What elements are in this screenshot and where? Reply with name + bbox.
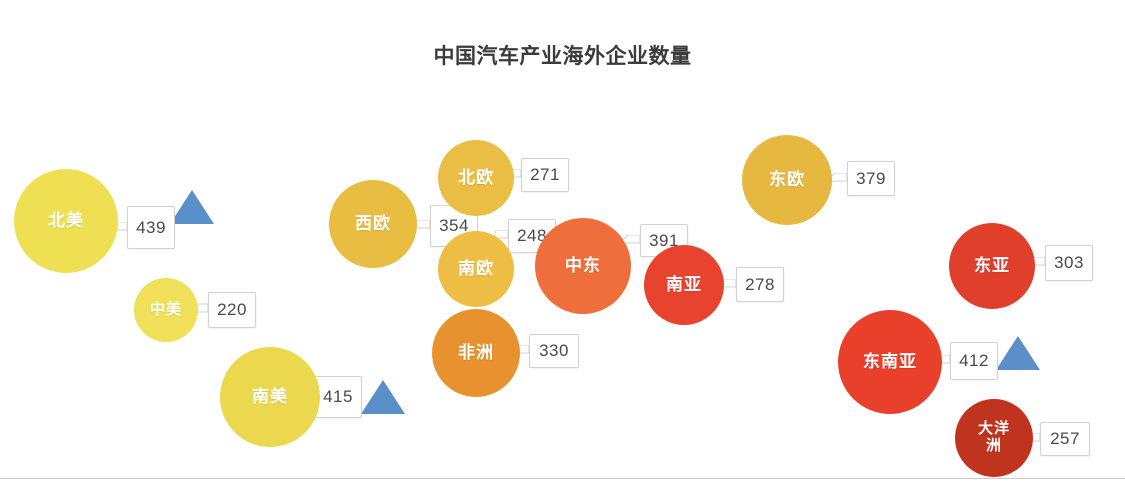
bubble-label: 北美 [48, 211, 84, 230]
value-callout-大洋洲[interactable]: 257 [1040, 422, 1090, 456]
bubble-北欧[interactable]: 北欧 [438, 140, 514, 216]
triangle-marker-2[interactable] [361, 380, 405, 414]
bubble-label: 中东 [565, 256, 601, 275]
bubble-label: 北欧 [458, 168, 494, 187]
value-text: 412 [959, 351, 989, 371]
value-text: 271 [530, 165, 560, 185]
bubble-南亚[interactable]: 南亚 [644, 245, 724, 325]
bubble-中美[interactable]: 中美 [134, 278, 198, 342]
bubble-东欧[interactable]: 东欧 [742, 135, 832, 225]
bubble-label: 东亚 [974, 256, 1010, 275]
bubble-label: 非洲 [458, 343, 494, 362]
value-text: 330 [539, 341, 569, 361]
bubble-南欧[interactable]: 南欧 [438, 231, 514, 307]
value-callout-东亚[interactable]: 303 [1045, 245, 1093, 281]
value-text: 278 [745, 275, 775, 295]
bubble-label: 大洋洲 [976, 421, 1012, 455]
value-callout-南美[interactable]: 415 [314, 376, 362, 418]
bubble-label: 东欧 [769, 170, 805, 189]
bubble-chart-canvas: 中国汽车产业海外企业数量 北美中美南美西欧北欧南欧东欧中东南亚非洲东亚东南亚大洋… [0, 0, 1125, 485]
bubble-北美[interactable]: 北美 [14, 169, 118, 273]
triangle-marker-number: 1 [170, 221, 214, 241]
triangle-marker-1[interactable] [170, 190, 214, 224]
value-text: 415 [323, 387, 353, 407]
bubble-label: 南亚 [666, 275, 702, 294]
bubble-东南亚[interactable]: 东南亚 [838, 310, 942, 414]
value-callout-东欧[interactable]: 379 [847, 161, 895, 196]
bubble-西欧[interactable]: 西欧 [329, 180, 417, 268]
bubble-label: 中美 [150, 302, 182, 319]
value-text: 257 [1050, 429, 1080, 449]
value-callout-非洲[interactable]: 330 [529, 334, 579, 368]
value-callout-南亚[interactable]: 278 [736, 267, 784, 302]
value-callout-东南亚[interactable]: 412 [950, 342, 998, 380]
value-callout-北欧[interactable]: 271 [521, 158, 569, 192]
bubble-label: 西欧 [355, 214, 391, 233]
baseline-divider [0, 478, 1125, 479]
value-text: 439 [136, 218, 166, 238]
value-text: 379 [856, 169, 886, 189]
bubble-东亚[interactable]: 东亚 [949, 223, 1035, 309]
triangle-marker-3[interactable] [996, 336, 1040, 370]
value-callout-北美[interactable]: 439 [127, 206, 175, 249]
triangle-marker-number: 2 [361, 411, 405, 431]
bubble-非洲[interactable]: 非洲 [432, 309, 520, 397]
bubble-label: 东南亚 [863, 352, 917, 371]
bubble-南美[interactable]: 南美 [220, 347, 320, 447]
bubble-大洋洲[interactable]: 大洋洲 [955, 399, 1033, 477]
value-text: 303 [1054, 253, 1084, 273]
bubble-label: 南美 [252, 387, 288, 406]
chart-title: 中国汽车产业海外企业数量 [0, 40, 1125, 70]
triangle-marker-number: 3 [996, 367, 1040, 387]
bubble-label: 南欧 [458, 259, 494, 278]
value-callout-中美[interactable]: 220 [208, 292, 256, 328]
bubble-中东[interactable]: 中东 [535, 218, 631, 314]
value-text: 220 [217, 300, 247, 320]
